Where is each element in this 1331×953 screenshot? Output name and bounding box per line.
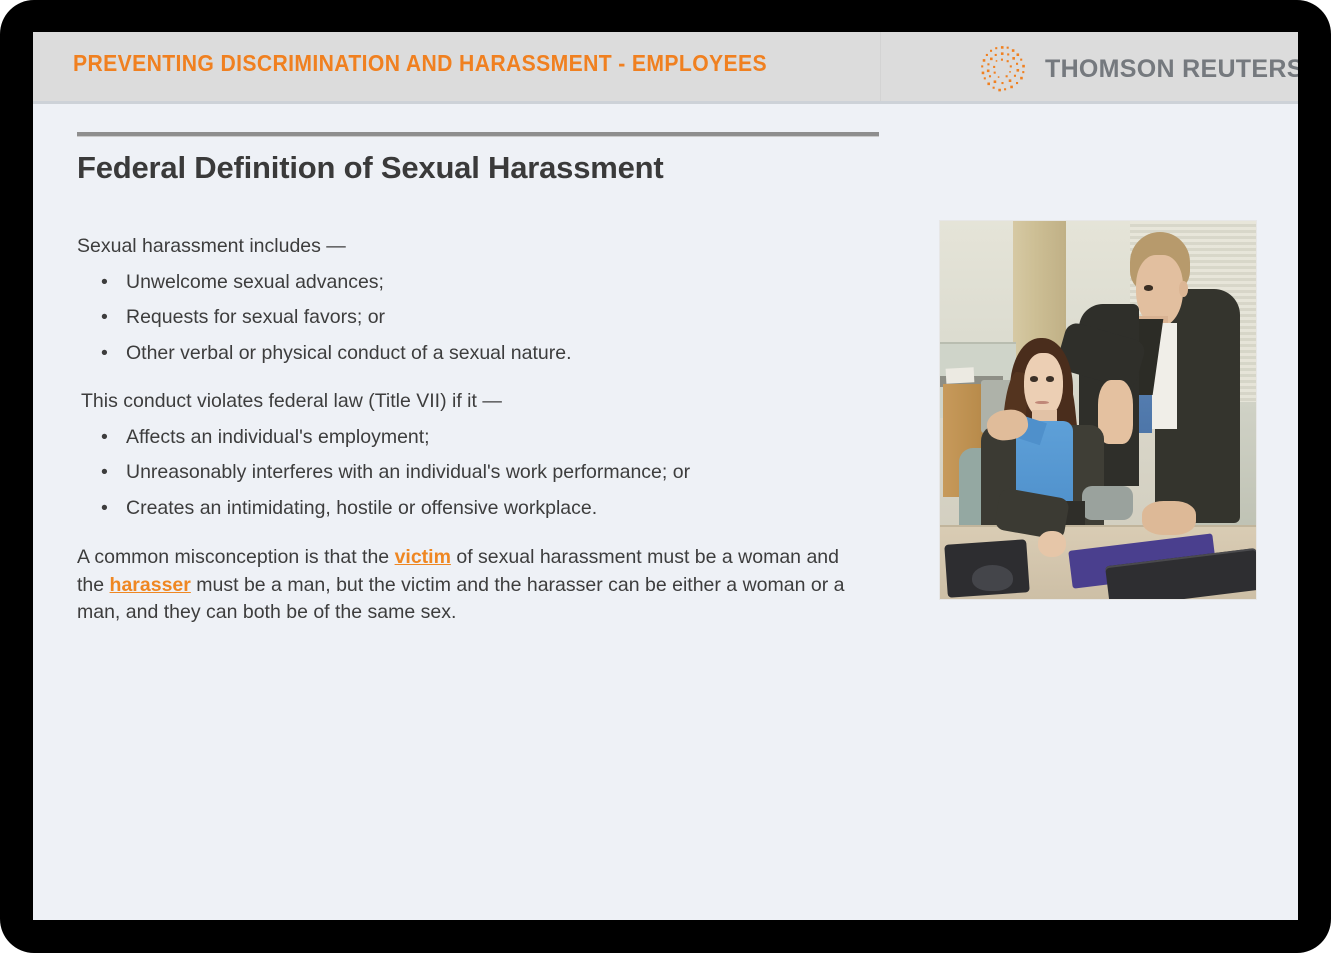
closing-paragraph: A common misconception is that the victi… [77,544,847,627]
slide-text-column: Sexual harassment includes — • Unwelcome… [77,234,867,627]
glossary-link-harasser[interactable]: harasser [110,574,191,596]
slide-photo [939,220,1257,600]
list-item: • Other verbal or physical conduct of a … [77,341,867,367]
thomson-reuters-logo: THOMSON REUTERS® [977,47,1298,91]
list-item-label: Affects an individual's employment; [126,426,430,448]
bullet-icon: • [101,305,108,331]
slide-canvas: PREVENTING DISCRIMINATION AND HARASSMENT… [33,32,1298,920]
title-underline-rule [77,132,879,137]
thomson-reuters-dots-icon [977,43,1029,95]
list-item-label: Other verbal or physical conduct of a se… [126,342,572,364]
bullet-icon: • [101,270,108,296]
bullet-icon: • [101,460,108,486]
lead-in-paragraph-1: Sexual harassment includes — [77,234,867,260]
slide-title: Federal Definition of Sexual Harassment [77,150,664,186]
list-item: • Requests for sexual favors; or [77,305,867,331]
list-item-label: Unreasonably interferes with an individu… [126,461,690,483]
list-item-label: Creates an intimidating, hostile or offe… [126,497,597,519]
header-divider [880,32,881,101]
slide-header-bar: PREVENTING DISCRIMINATION AND HARASSMENT… [33,32,1298,104]
list-item: • Creates an intimidating, hostile or of… [77,496,867,522]
photo-scene [940,221,1256,599]
closing-text-part-3: must be a man, but the victim and the ha… [77,574,844,624]
list-item-label: Requests for sexual favors; or [126,306,385,328]
slide-viewer-frame: PREVENTING DISCRIMINATION AND HARASSMENT… [0,0,1331,953]
glossary-link-victim[interactable]: victim [395,546,451,568]
closing-text-part-1: A common misconception is that the [77,546,395,568]
bullet-list-definition: • Unwelcome sexual advances; • Requests … [77,270,867,367]
list-item: • Unreasonably interferes with an indivi… [77,460,867,486]
bullet-icon: • [101,341,108,367]
slide-body: Federal Definition of Sexual Harassment … [33,104,1298,920]
brand-name-text: THOMSON REUTERS [1045,55,1298,83]
lead-in-paragraph-2: This conduct violates federal law (Title… [77,389,867,415]
list-item: • Affects an individual's employment; [77,425,867,451]
bullet-icon: • [101,425,108,451]
bullet-list-violation-criteria: • Affects an individual's employment; • … [77,425,867,522]
brand-wordmark: THOMSON REUTERS® [1045,55,1298,84]
list-item-label: Unwelcome sexual advances; [126,271,384,293]
bullet-icon: • [101,496,108,522]
list-item: • Unwelcome sexual advances; [77,270,867,296]
course-title: PREVENTING DISCRIMINATION AND HARASSMENT… [73,50,767,77]
